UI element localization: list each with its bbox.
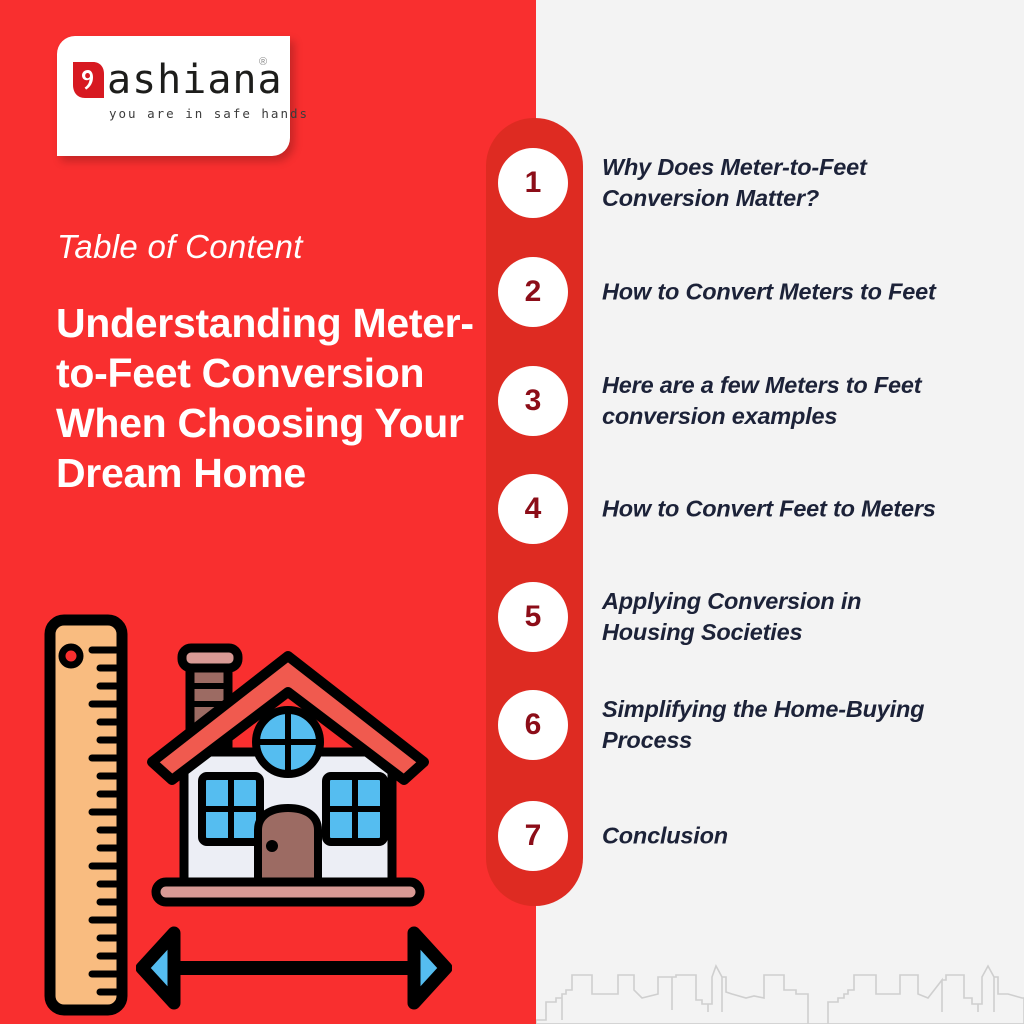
toc-label-4: How to Convert Feet to Meters <box>602 494 954 525</box>
toc-item-5[interactable]: 5 Applying Conversion in Housing Societi… <box>498 582 948 652</box>
toc-number-5: 5 <box>498 582 568 652</box>
toc-number-2: 2 <box>498 257 568 327</box>
toc-item-7[interactable]: 7 Conclusion <box>498 801 948 871</box>
toc-number-6: 6 <box>498 690 568 760</box>
infographic-canvas: ashiana ® you are in safe hands Table of… <box>0 0 1024 1024</box>
toc-item-2[interactable]: 2 How to Convert Meters to Feet <box>498 257 948 327</box>
toc-item-4[interactable]: 4 How to Convert Feet to Meters <box>498 474 948 544</box>
toc-number-4: 4 <box>498 474 568 544</box>
toc-item-1[interactable]: 1 Why Does Meter-to-Feet Conversion Matt… <box>498 148 948 218</box>
toc-number-1: 1 <box>498 148 568 218</box>
toc-label-1: Why Does Meter-to-Feet Conversion Matter… <box>602 152 954 214</box>
toc-label-2: How to Convert Meters to Feet <box>602 277 954 308</box>
toc-label-3: Here are a few Meters to Feet conversion… <box>602 370 954 432</box>
toc-item-3[interactable]: 3 Here are a few Meters to Feet conversi… <box>498 366 948 436</box>
toc-label-6: Simplifying the Home-Buying Process <box>602 694 954 756</box>
toc-label-5: Applying Conversion in Housing Societies <box>602 586 954 648</box>
city-skyline-icon <box>536 932 1024 1024</box>
toc-label-7: Conclusion <box>602 821 954 852</box>
table-of-contents-list: 1 Why Does Meter-to-Feet Conversion Matt… <box>0 0 1024 1024</box>
toc-number-7: 7 <box>498 801 568 871</box>
toc-item-6[interactable]: 6 Simplifying the Home-Buying Process <box>498 690 948 760</box>
toc-number-3: 3 <box>498 366 568 436</box>
